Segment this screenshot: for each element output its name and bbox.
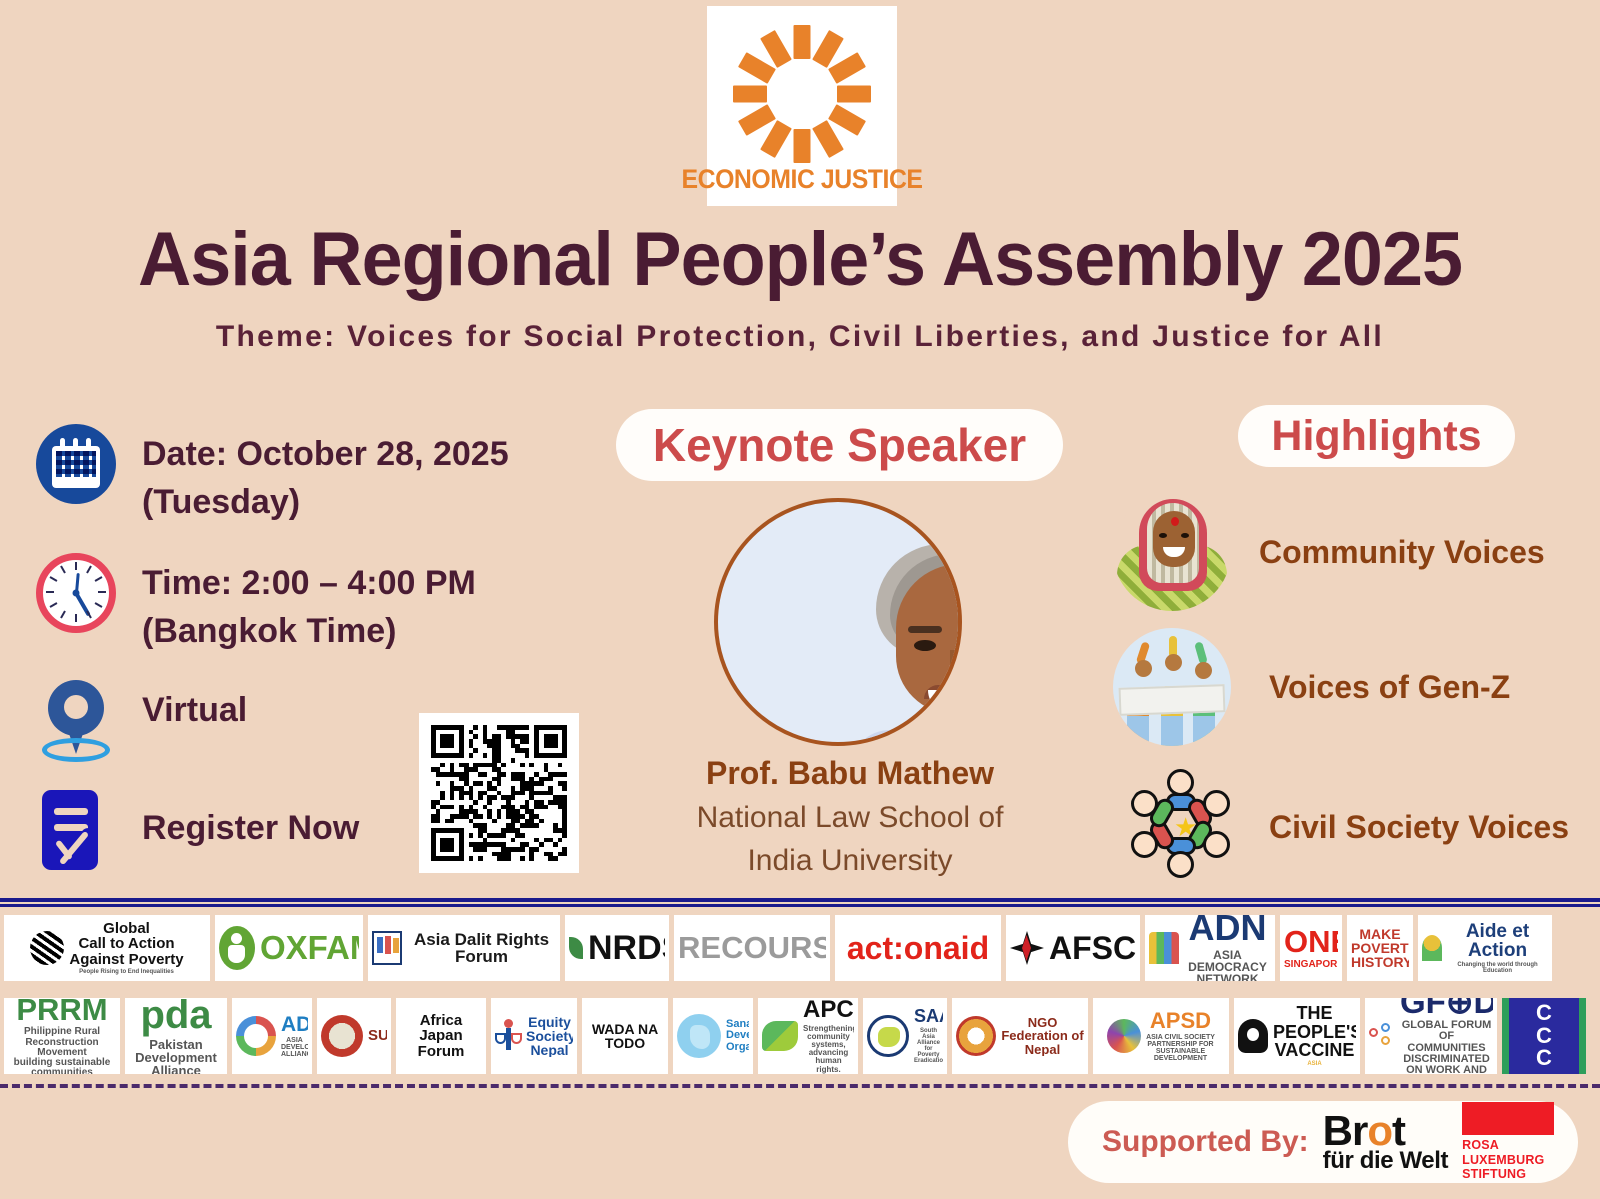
partner-logos-row-1: Global Call to Action Against PovertyPeo… [4,914,1557,982]
page-title: Asia Regional People’s Assembly 2025 [24,216,1576,303]
partner-logo-prrm: PRRMPhilippine Rural Reconstruction Move… [4,998,120,1074]
partner-logo-mark-aea [1422,935,1442,961]
partner-logo-mark-adn [1149,932,1179,964]
partner-logo-text-adrf: Asia Dalit Rights Forum [407,931,556,966]
partner-logo-text-wnt: WADA NA TODO [592,1022,658,1051]
speaker-affiliation-line2: India University [600,840,1100,883]
partner-logo-saape: SAAPESouth Asia Alliance for Poverty Era… [863,998,947,1074]
rls-logo-text: ROSALUXEMBURGSTIFTUNG [1462,1138,1554,1182]
people-circle-icon: ★ [1125,768,1243,886]
detail-row-date: Date: October 28, 2025 (Tuesday) [36,424,542,527]
partner-logo-text-nrds: NRDS [588,931,665,966]
partner-logo-mph: MAKE POVERTY HISTORY [1347,915,1413,981]
detail-row-time: Time: 2:00 – 4:00 PM (Bangkok Time) [36,553,542,656]
partner-logo-text-prrm: PRRM [8,998,116,1025]
detail-text-date: Date: October 28, 2025 (Tuesday) [142,424,542,527]
detail-row-register[interactable]: Register Now [38,790,359,872]
partner-logo-sdo: Sanayee Development Organization [673,998,753,1074]
page-theme: Theme: Voices for Social Protection, Civ… [0,320,1600,354]
partner-logo-apsd: APSDASIA CIVIL SOCIETY PARTNERSHIP FOR S… [1093,998,1229,1074]
partner-logo-text-one: ONE [1284,926,1338,958]
partner-logo-text-adn: ADN [1184,915,1271,947]
partner-logo-mark-gfod [1369,1023,1395,1049]
partner-logo-afsc: AFSC [1006,915,1140,981]
partner-logo-ada: ADAASIA DEVELOPMENT ALLIANCE [232,998,312,1074]
partner-logo-apcaso: APCASOStrengthening community systems, a… [758,998,858,1074]
clock-icon [36,553,116,633]
partner-logo-mark-sunfo [321,1015,363,1057]
partner-logo-text-ccc: C C C [1536,1002,1552,1069]
partner-logo-mark-tpv [1238,1019,1268,1053]
brot-logo-top: Brot [1323,1111,1448,1150]
supported-by-panel: Supported By: Brot für die Welt ROSALUXE… [1068,1101,1578,1183]
partner-logo-sunfo: SUNFO [317,998,391,1074]
partner-logo-tagline-one: SINGAPORE [1284,960,1338,970]
partner-logo-adn: ADNASIA DEMOCRACY NETWORK [1145,915,1275,981]
partner-logo-text-recourse: RECOURSE [678,932,826,964]
partner-logo-mark-ngofn [956,1016,996,1056]
registration-qr-code[interactable] [419,713,579,873]
partner-logo-text-ada: ADA [281,1014,308,1035]
speaker-affiliation: National Law School of India University [600,797,1100,883]
partner-logo-mark-apsd [1107,1019,1141,1053]
partner-logo-text-ajf: Africa Japan Forum [418,1013,465,1059]
partner-logo-tagline-gfod: GLOBAL FORUM OF COMMUNITIES DISCRIMINATE… [1400,1020,1493,1074]
partner-logo-tagline-adn: ASIA DEMOCRACY NETWORK [1184,949,1271,981]
speaker-affiliation-line1: National Law School of [600,797,1100,840]
register-form-icon [38,790,116,872]
highlights-pill: Highlights [1238,405,1515,467]
highlight-item-civil-society: ★ Civil Society Voices [1125,768,1569,886]
partner-logo-text-gcap: Global Call to Action Against Poverty [69,921,183,967]
detail-row-venue: Virtual [36,680,247,766]
partner-logo-tagline-apsd: ASIA CIVIL SOCIETY PARTNERSHIP FOR SUSTA… [1146,1034,1215,1063]
partner-logo-tagline-prrm: Philippine Rural Reconstruction Movement… [8,1027,116,1074]
economic-justice-logo-text: ECONOMIC JUSTICE [681,164,922,195]
partner-logo-esn: Equity Society Nepal [491,998,577,1074]
partner-logo-nrds: NRDS [565,915,669,981]
partner-logo-wnt: WADA NA TODO [582,998,668,1074]
partner-logo-gfod: GF⊕DGLOBAL FORUM OF COMMUNITIES DISCRIMI… [1365,998,1497,1074]
partner-logo-mark-esn [495,1019,521,1053]
partner-logo-mark-adrf [372,931,402,965]
rosa-luxemburg-stiftung-logo: ROSALUXEMBURGSTIFTUNG [1462,1102,1554,1182]
youth-protest-illustration [1113,628,1231,746]
supported-by-label: Supported By: [1102,1125,1309,1159]
partner-logo-text-mph: MAKE POVERTY HISTORY [1351,927,1409,970]
economic-justice-logo: ECONOMIC JUSTICE [707,6,897,206]
partner-logo-mark-saape [867,1015,909,1057]
partner-logo-gcap: Global Call to Action Against PovertyPeo… [4,915,210,981]
highlight-item-community: Community Voices [1113,493,1545,611]
partner-logo-mark-ada [236,1016,276,1056]
highlight-label-community: Community Voices [1259,534,1545,571]
partner-logo-tagline-apcaso: Strengthening community systems, advanci… [803,1025,854,1074]
partner-logo-one: ONESINGAPORE [1280,915,1342,981]
location-pin-icon [36,680,116,766]
partner-logo-tagline-gcap: People Rising to End Inequalities [69,969,183,975]
speaker-name: Prof. Babu Mathew [600,755,1100,792]
partner-logo-tagline-ada: ASIA DEVELOPMENT ALLIANCE [281,1037,308,1058]
partner-logo-recourse: RECOURSE [674,915,830,981]
partner-logo-text-apcaso: APCASO [803,998,854,1022]
partner-logo-tagline-saape: South Asia Alliance for Poverty Eradicat… [914,1028,943,1065]
partner-logo-text-apsd: APSD [1146,1010,1215,1032]
partner-logo-text-ngofn: NGO Federation of Nepal [1001,1016,1084,1056]
keynote-speaker-pill: Keynote Speaker [616,409,1063,481]
highlight-label-genz: Voices of Gen-Z [1269,669,1510,706]
detail-text-venue: Virtual [142,680,247,734]
partner-logo-text-sdo: Sanayee Development Organization [726,1019,749,1053]
partner-logo-text-oxfam: OXFAM [260,931,359,965]
partner-logo-mark-apcaso [762,1021,798,1051]
partner-logo-text-pda: pda [129,998,223,1036]
partner-logo-oxfam: OXFAM [215,915,363,981]
partner-logo-tpv: THE PEOPLE'S VACCINEASIA [1234,998,1360,1074]
partner-logo-text-aea: Aide et Action [1447,922,1548,961]
partner-logo-aea: Aide et ActionChanging the world through… [1418,915,1552,981]
partner-logos-row-2: PRRMPhilippine Rural Reconstruction Move… [4,998,1591,1074]
divider-top [0,898,1600,902]
partner-logo-text-gfod: GF⊕D [1400,998,1493,1018]
partner-logo-adrf: Asia Dalit Rights Forum [368,915,560,981]
partner-logo-ngofn: NGO Federation of Nepal [952,998,1088,1074]
partner-logo-tagline-aea: Changing the world through Education [1447,962,1548,974]
brot-logo-bottom: für die Welt [1323,1150,1448,1173]
speaker-photo [714,498,962,746]
divider-dashed [0,1084,1600,1088]
partner-logo-text-saape: SAAPE [914,1007,943,1025]
sunburst-icon [728,20,876,168]
brot-fuer-die-welt-logo: Brot für die Welt [1323,1111,1448,1173]
partner-logo-actionaid: act:onaid [835,915,1001,981]
rls-red-bar [1462,1102,1554,1135]
partner-logo-text-sunfo: SUNFO [368,1028,387,1043]
partner-logo-text-esn: Equity Society Nepal [526,1015,573,1058]
detail-text-register[interactable]: Register Now [142,790,359,852]
partner-logo-ajf: Africa Japan Forum [396,998,486,1074]
highlight-item-genz: Voices of Gen-Z [1113,628,1510,746]
partner-logo-mark-oxfam [219,926,255,970]
partner-logo-tagline-tpv: ASIA [1273,1061,1356,1067]
partner-logo-text-afsc: AFSC [1049,932,1136,965]
partner-logo-ccc: C C C [1502,998,1586,1074]
highlight-label-civil-society: Civil Society Voices [1269,809,1569,846]
partner-logo-mark-gcap [30,931,64,965]
partner-logo-mark-afsc [1010,931,1044,965]
community-woman-photo [1113,493,1231,611]
detail-text-time: Time: 2:00 – 4:00 PM (Bangkok Time) [142,553,542,656]
partner-logo-tagline-pda: Pakistan Development Alliance [129,1038,223,1074]
calendar-icon [36,424,116,504]
poster-canvas: ECONOMIC JUSTICE Asia Regional People’s … [0,0,1600,1199]
divider-top-2 [0,904,1600,907]
partner-logo-text-tpv: THE PEOPLE'S VACCINE [1273,1004,1356,1059]
partner-logo-pda: pdaPakistan Development Alliance [125,998,227,1074]
partner-logo-mark-nrds [569,937,583,959]
partner-logo-mark-sdo [677,1014,721,1058]
partner-logo-text-actionaid: act:onaid [847,932,989,965]
